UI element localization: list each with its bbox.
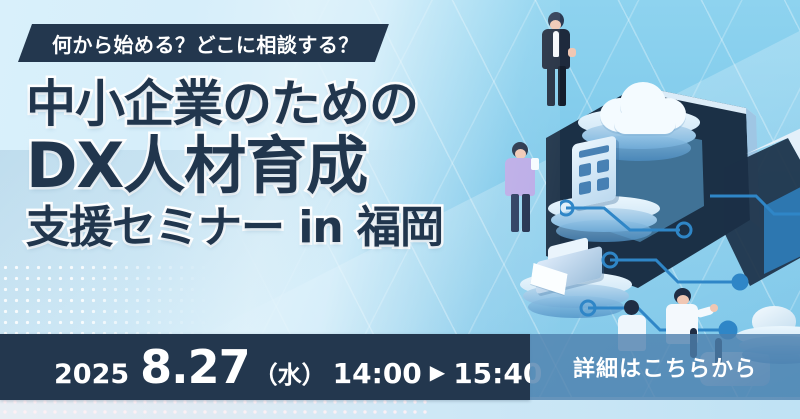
headline-line-2: DX人材育成	[26, 130, 586, 202]
cloud-icon	[594, 76, 692, 138]
date-line: 2025 8.27 （水） 14:00 ▶ 15:40	[54, 340, 542, 394]
event-date: 8.27	[140, 340, 250, 394]
event-weekday: （水）	[254, 355, 326, 390]
details-cta-label: 詳細はこちらから	[573, 351, 757, 383]
seminar-poster: 何から始める？どこに相談する？ 中小企業のための DX人材育成 支援セミナー i…	[0, 0, 800, 419]
tagline-ribbon: 何から始める？どこに相談する？	[18, 24, 389, 62]
event-start-time: 14:00	[333, 357, 422, 390]
tagline-text: 何から始める？どこに相談する？	[52, 29, 359, 58]
headline-block: 中小企業のための DX人材育成 支援セミナー in 福岡	[26, 74, 586, 256]
date-bar: 2025 8.27 （水） 14:00 ▶ 15:40	[0, 334, 530, 400]
halftone-dots-bottom	[0, 397, 430, 419]
details-cta-button[interactable]: 詳細はこちらから	[530, 334, 800, 400]
event-year: 2025	[54, 359, 129, 390]
event-end-time: 15:40	[453, 357, 542, 390]
headline-line-1: 中小企業のための	[26, 74, 586, 134]
headline-line-3: 支援セミナー in 福岡	[26, 200, 586, 256]
halftone-dots-left	[0, 262, 210, 340]
time-range-arrow-icon: ▶	[430, 360, 445, 384]
